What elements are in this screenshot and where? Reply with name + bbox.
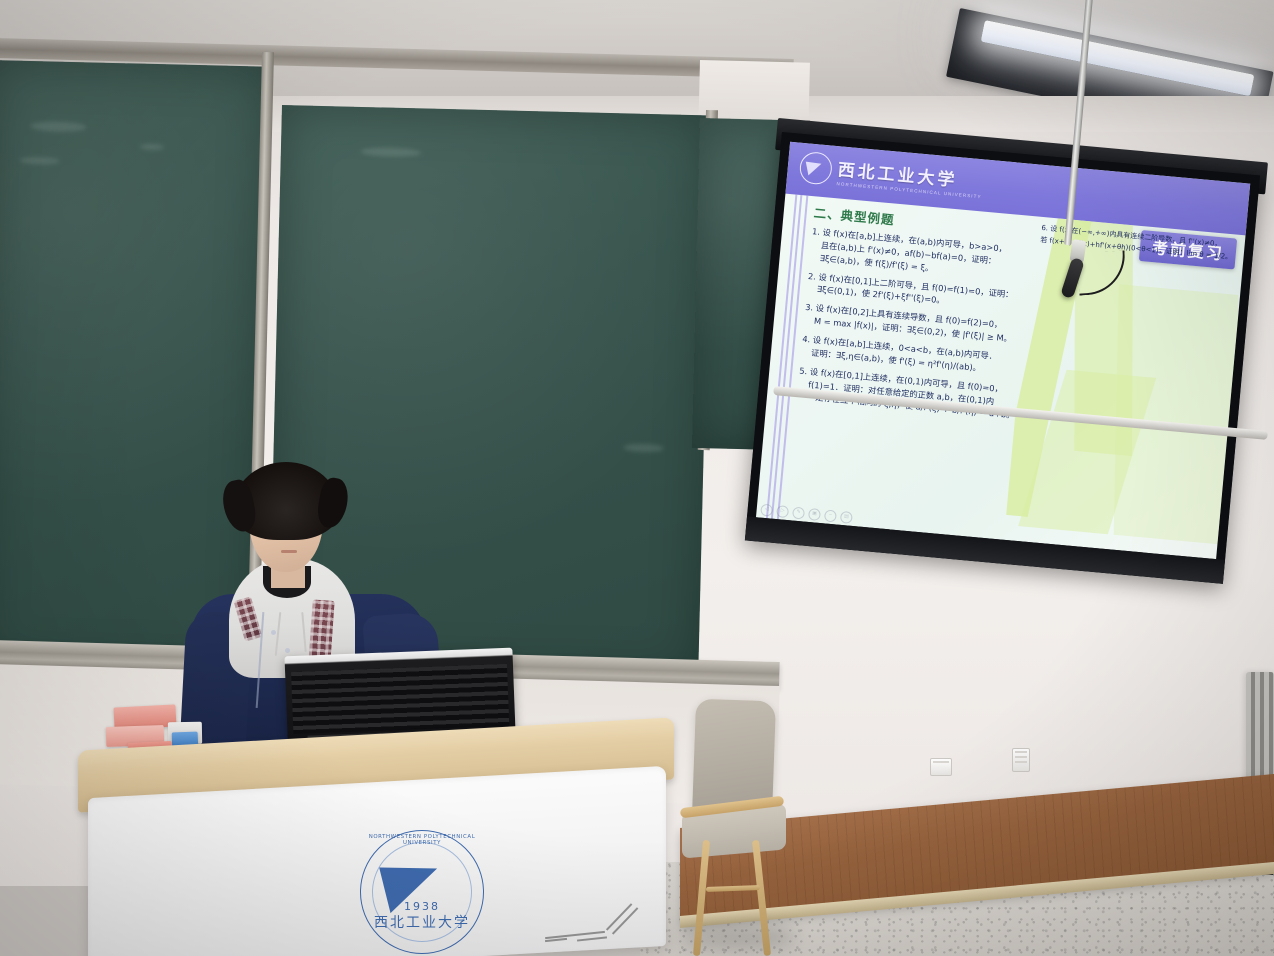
university-logo: 西北工业大学 NORTHWESTERN POLYTECHNICAL UNIVER…: [798, 151, 984, 200]
chair-stretcher: [706, 885, 760, 892]
mouth: [281, 550, 297, 553]
jacket-snap: [271, 630, 276, 635]
podium-emblem: NORTHWESTERN POLYTECHNICAL UNIVERSITY 19…: [360, 830, 484, 954]
emblem-text-en: NORTHWESTERN POLYTECHNICAL UNIVERSITY: [360, 834, 484, 846]
visitor-chair[interactable]: [676, 700, 792, 956]
screen-body: 西北工业大学 NORTHWESTERN POLYTECHNICAL UNIVER…: [745, 132, 1260, 584]
item-number: 4.: [802, 334, 811, 345]
pen-icon[interactable]: ✎: [792, 507, 805, 520]
item-number: 1.: [812, 226, 821, 237]
prev-slide-icon[interactable]: ◁: [760, 504, 773, 517]
item-number: 5.: [799, 365, 808, 376]
item-number: 2.: [808, 271, 817, 282]
projection-screen[interactable]: 西北工业大学 NORTHWESTERN POLYTECHNICAL UNIVER…: [770, 118, 1270, 568]
light-switch-panel[interactable]: [1012, 748, 1030, 772]
play-icon[interactable]: ▷: [776, 505, 789, 518]
projected-slide: 西北工业大学 NORTHWESTERN POLYTECHNICAL UNIVER…: [756, 142, 1250, 559]
classroom-scene: 西北工业大学 NORTHWESTERN POLYTECHNICAL UNIVER…: [0, 0, 1274, 956]
university-seal-icon: [798, 151, 833, 186]
jacket-snap: [285, 648, 290, 653]
hair: [233, 462, 339, 540]
chair-leg: [752, 840, 771, 956]
item-number: 3.: [805, 302, 814, 313]
highlighter-icon[interactable]: ▣: [808, 508, 821, 521]
item-number: 6.: [1041, 224, 1048, 233]
podium-decor-stripes: [545, 898, 655, 944]
light-switch[interactable]: [930, 758, 952, 776]
minus-icon[interactable]: −: [824, 509, 837, 522]
menu-icon[interactable]: ▤: [840, 511, 853, 524]
emblem-text-cn: 西北工业大学: [360, 912, 484, 932]
